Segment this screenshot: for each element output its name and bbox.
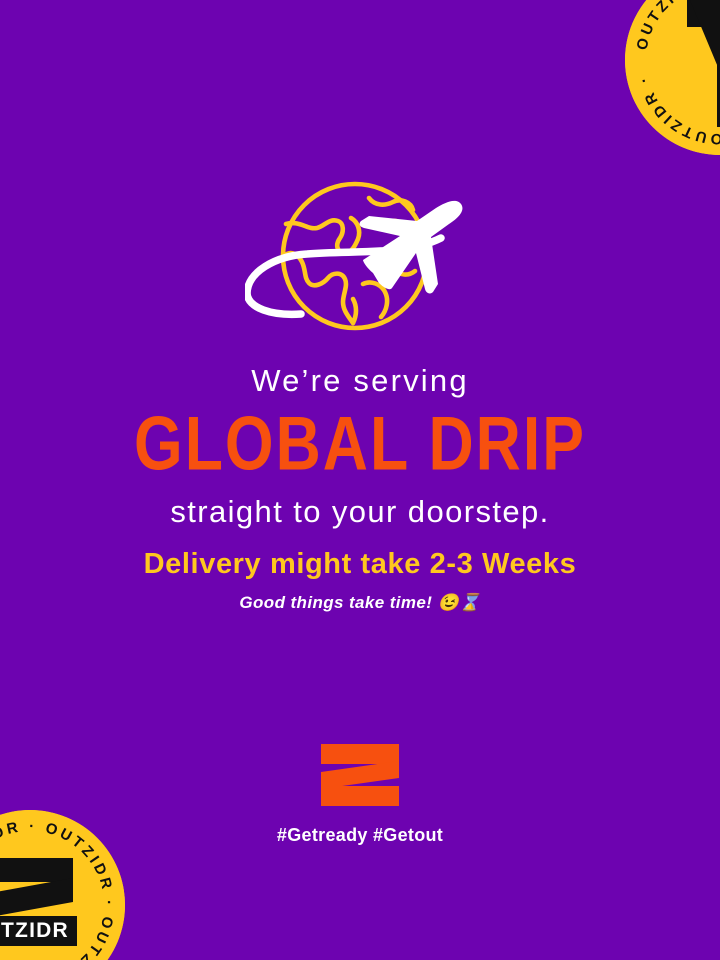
headline-title: GLOBAL DRIP bbox=[0, 412, 720, 477]
outzidr-z-logo-icon bbox=[321, 744, 399, 806]
headline-block: We’re serving GLOBAL DRIP straight to yo… bbox=[0, 364, 720, 529]
orbit-trail-tail bbox=[247, 294, 301, 314]
delivery-note-sub: Good things take time! 😉⌛ bbox=[0, 593, 720, 613]
headline-eyebrow: We’re serving bbox=[0, 364, 720, 398]
badge-wordmark: OUTZIDR bbox=[0, 919, 69, 942]
badge-bottom-left: OUTZIDR · OUTZIDR · OUTZIDR · OUTZIDR · … bbox=[0, 810, 125, 960]
delivery-time-text: Delivery might take 2-3 Weeks bbox=[0, 548, 720, 581]
promo-poster: OUTZIDR · OUTZIDR · OUTZIDR · OUTZIDR · bbox=[0, 0, 720, 960]
headline-title-text: GLOBAL DRIP bbox=[134, 405, 586, 484]
delivery-note-block: Delivery might take 2-3 Weeks Good thing… bbox=[0, 548, 720, 613]
hero-icon-container bbox=[0, 176, 720, 341]
globe-airplane-icon bbox=[245, 176, 475, 341]
badge-top-right: OUTZIDR · OUTZIDR · OUTZIDR · OUTZIDR · bbox=[625, 0, 720, 155]
headline-subtitle: straight to your doorstep. bbox=[0, 495, 720, 529]
